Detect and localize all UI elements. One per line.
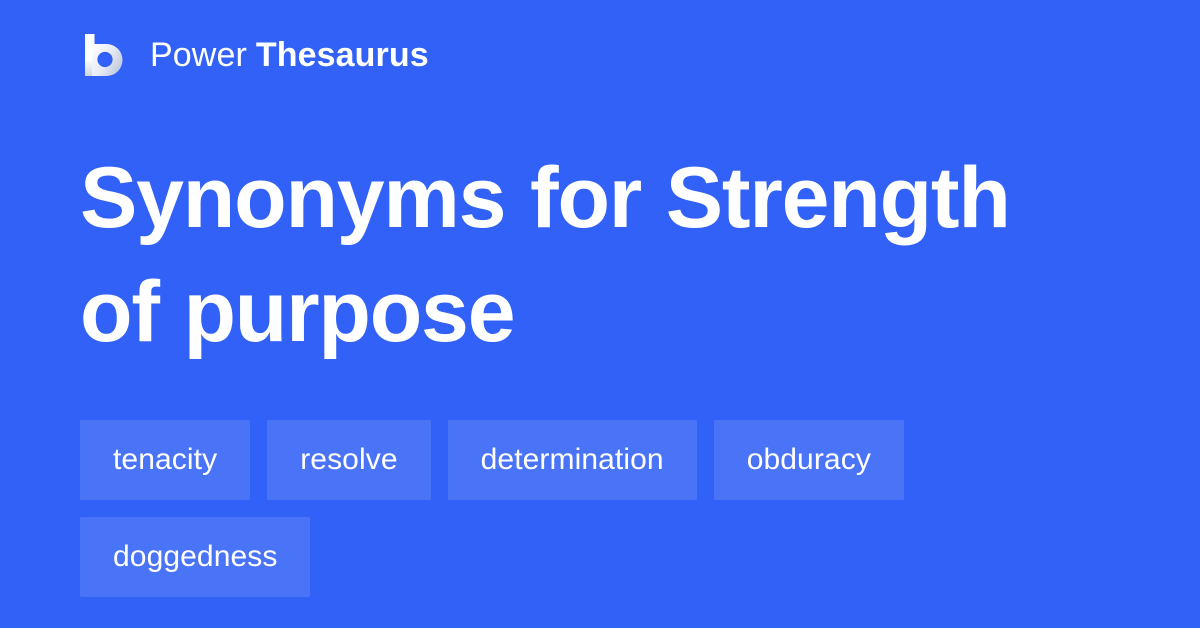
synonym-chip[interactable]: doggedness [80, 517, 310, 597]
synonym-chip-list: tenacity resolve determination obduracy … [80, 420, 1120, 597]
page-root: PowerThesaurus Synonyms for Strength of … [0, 0, 1200, 628]
brand-word-power: Power [150, 38, 247, 72]
synonym-chip[interactable]: obduracy [714, 420, 904, 500]
synonym-chip[interactable]: tenacity [80, 420, 250, 500]
synonym-chip[interactable]: resolve [267, 420, 430, 500]
synonym-chip[interactable]: determination [448, 420, 697, 500]
brand-word-thesaurus: Thesaurus [256, 38, 429, 72]
brand-title: PowerThesaurus [150, 38, 429, 72]
brand-header[interactable]: PowerThesaurus [80, 29, 429, 81]
page-title: Synonyms for Strength of purpose [80, 141, 1100, 369]
power-thesaurus-logo-icon[interactable] [80, 31, 128, 79]
